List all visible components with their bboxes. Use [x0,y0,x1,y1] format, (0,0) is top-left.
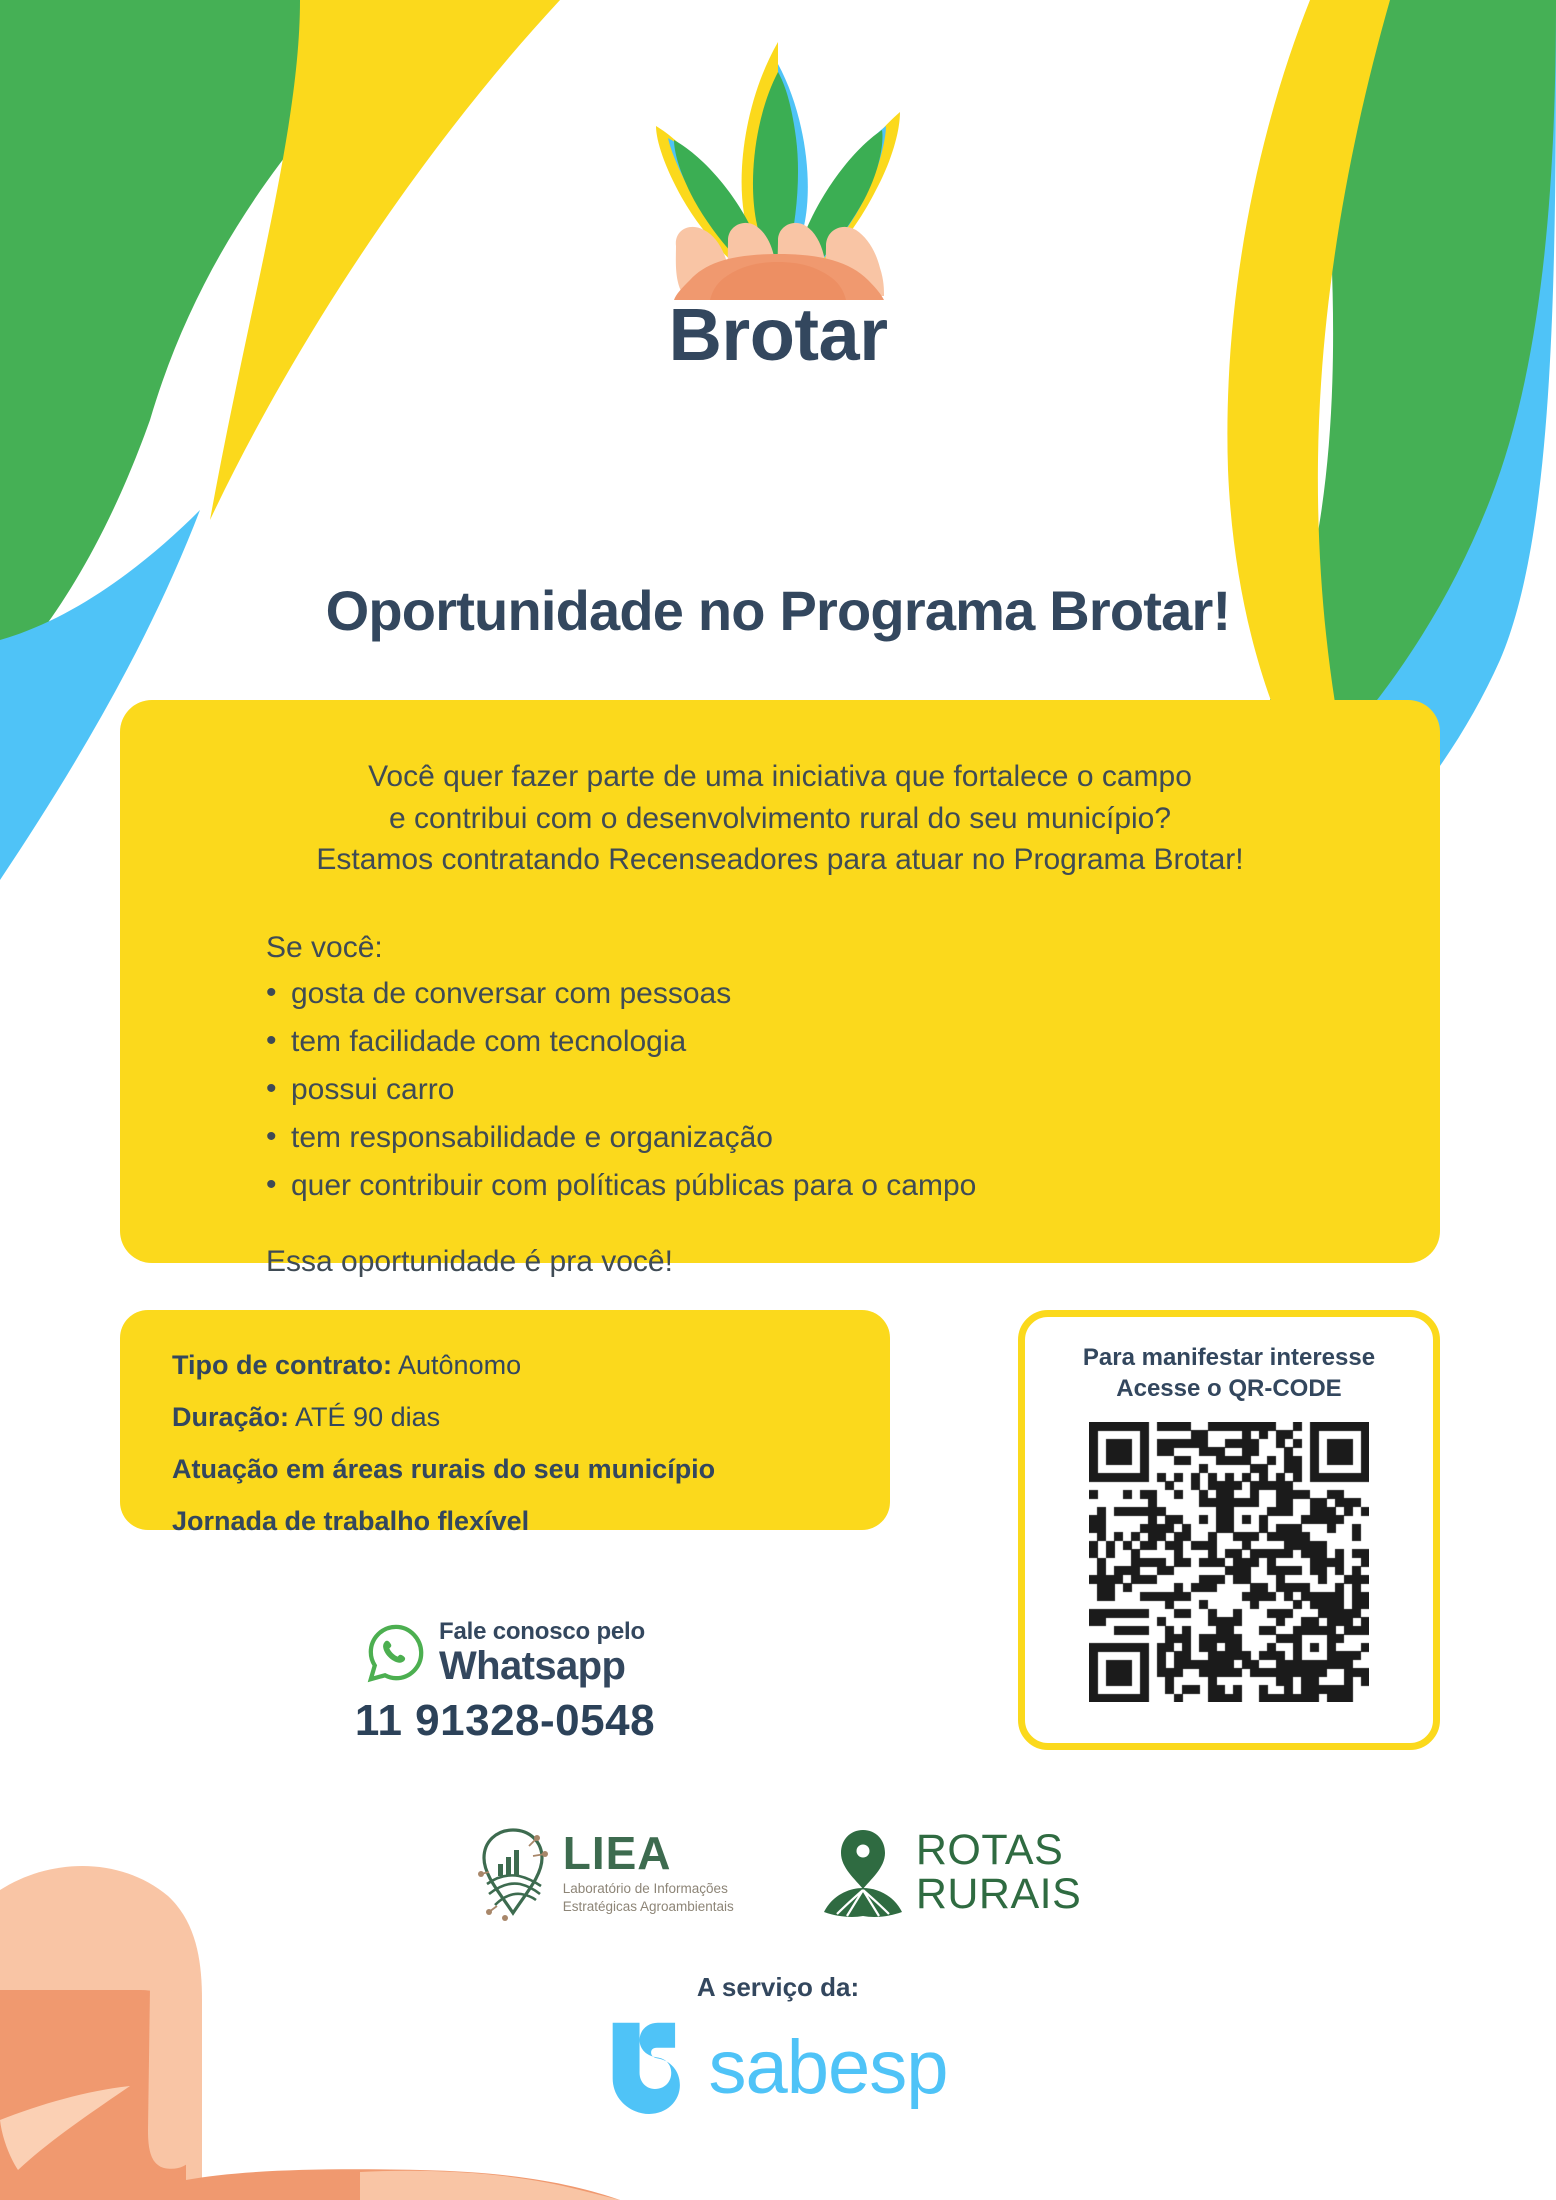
brand-logo: Brotar [0,34,1556,372]
table-row: Atuação em áreas rurais do seu município [172,1456,890,1483]
qr-code-icon[interactable] [1089,1422,1369,1702]
whatsapp-subtitle: Fale conosco pelo [439,1620,645,1644]
list-item: tem facilidade com tecnologia [266,1027,1440,1057]
liea-name: LIEA [563,1830,734,1876]
whatsapp-name: Whatsapp [439,1646,645,1686]
term-label: Atuação em áreas rurais do seu município [172,1454,715,1484]
requirements-closer: Essa oportunidade é pra você! [266,1247,1440,1277]
intro-text: Você quer fazer parte de uma iniciativa … [120,700,1440,881]
partner-logos: LIEA Laboratório de Informações Estratég… [0,1824,1556,1922]
whatsapp-phone-number[interactable]: 11 91328-0548 [355,1696,655,1746]
term-value: Autônomo [398,1350,521,1380]
liea-logo: LIEA Laboratório de Informações Estratég… [475,1824,734,1922]
rotas-rurais-pin-field-icon [822,1826,904,1920]
rotas-rurais-text: ROTAS RURAIS [916,1829,1081,1917]
liea-tagline-line-1: Laboratório de Informações [563,1880,734,1898]
requirements-block: Se você: gosta de conversar com pessoas … [120,933,1440,1277]
rotas-rurais-logo: ROTAS RURAIS [822,1826,1081,1920]
rotas-name-line-2: RURAIS [916,1873,1081,1917]
table-row: Duração: ATÉ 90 dias [172,1404,890,1431]
service-label: A serviço da: [0,1972,1556,2003]
page-title: Oportunidade no Programa Brotar! [0,578,1556,643]
liea-tagline-line-2: Estratégicas Agroambientais [563,1898,734,1916]
qr-label-line-1: Para manifestar interesse [1083,1343,1375,1374]
intro-line-3: Estamos contratando Recenseadores para a… [120,839,1440,881]
sabesp-logo: sabesp [0,2020,1556,2116]
term-label: Tipo de contrato: [172,1350,392,1380]
list-item: quer contribuir com políticas públicas p… [266,1171,1440,1201]
contract-terms-panel: Tipo de contrato: Autônomo Duração: ATÉ … [120,1310,890,1530]
whatsapp-labels: Fale conosco pelo Whatsapp [439,1620,645,1686]
rotas-name-line-1: ROTAS [916,1829,1081,1873]
list-item: tem responsabilidade e organização [266,1123,1440,1153]
liea-tagline: Laboratório de Informações Estratégicas … [563,1880,734,1916]
term-value: ATÉ 90 dias [295,1402,440,1432]
brand-wordmark: Brotar [668,298,887,372]
term-label: Jornada de trabalho flexível [172,1506,529,1536]
table-row: Jornada de trabalho flexível [172,1508,890,1535]
sabesp-mark-icon [608,2020,690,2116]
qr-code-card[interactable]: Para manifestar interesse Acesse o QR-CO… [1018,1310,1440,1750]
list-item: possui carro [266,1075,1440,1105]
qr-instructions: Para manifestar interesse Acesse o QR-CO… [1083,1343,1375,1404]
requirements-list: gosta de conversar com pessoas tem facil… [266,979,1440,1201]
whatsapp-contact[interactable]: Fale conosco pelo Whatsapp 11 91328-0548 [120,1620,890,1746]
opportunity-panel: Você quer fazer parte de uma iniciativa … [120,700,1440,1263]
bottom-hand-edge-light [360,2171,620,2200]
list-item: gosta de conversar com pessoas [266,979,1440,1009]
sabesp-wordmark: sabesp [708,2030,947,2106]
whatsapp-icon[interactable] [365,1622,427,1684]
table-row: Tipo de contrato: Autônomo [172,1352,890,1379]
term-label: Duração: [172,1402,289,1432]
sprout-in-hands-icon [628,34,928,302]
intro-line-2: e contribui com o desenvolvimento rural … [120,798,1440,840]
qr-label-line-2: Acesse o QR-CODE [1083,1374,1375,1405]
poster-canvas: Brotar Oportunidade no Programa Brotar! … [0,0,1556,2200]
whatsapp-heading: Fale conosco pelo Whatsapp [365,1620,645,1686]
liea-leaf-chart-icon [475,1824,553,1922]
liea-text-block: LIEA Laboratório de Informações Estratég… [563,1830,734,1916]
requirements-lead: Se você: [266,933,1440,963]
intro-line-1: Você quer fazer parte de uma iniciativa … [120,756,1440,798]
